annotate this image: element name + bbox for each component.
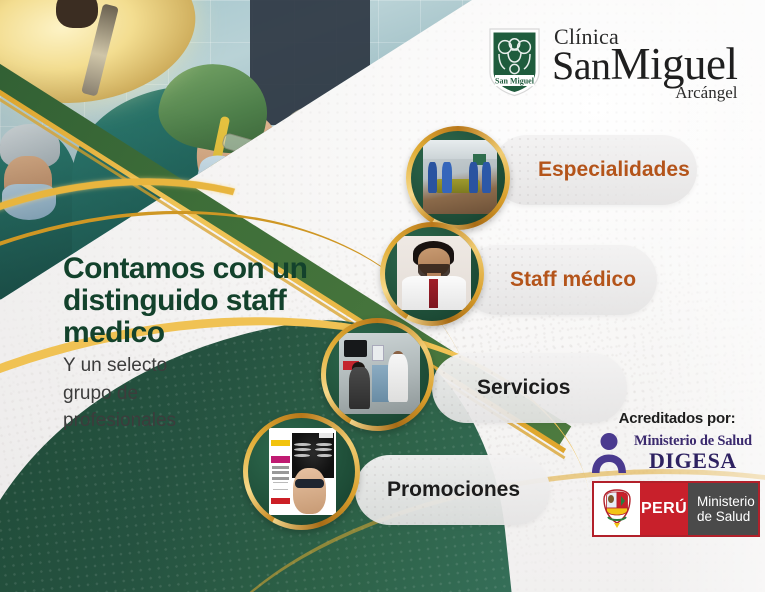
brand-logo[interactable]: San Miguel Clínica SanMiguel Arcángel <box>487 18 737 106</box>
xray-rib <box>317 454 332 457</box>
menu-label-promociones: Promociones <box>387 478 520 502</box>
operating-room-photo <box>423 140 496 213</box>
or-staff-4 <box>482 162 492 193</box>
digesa-ministry-text: Ministerio de Salud <box>634 434 752 449</box>
thumb-ring-inner <box>326 323 429 426</box>
minsa-country-label: PERÚ <box>640 483 688 535</box>
menu-pill-promociones[interactable]: Promociones <box>355 455 550 525</box>
menu-pill-especialidades[interactable]: Especialidades <box>492 135 697 205</box>
menu-thumb-especialidades[interactable] <box>406 126 510 230</box>
xray-rib <box>315 448 332 451</box>
digesa-wordmark: Ministerio de Salud DIGESA <box>634 434 752 472</box>
page-subtitle: Y un selecto grupo de profesionales <box>63 352 283 435</box>
thumb-ring-inner <box>385 227 479 321</box>
subheadline-line-3: profesionales <box>63 407 283 435</box>
thumb-ring-inner <box>248 418 355 525</box>
digesa-acronym-text: DIGESA <box>634 450 752 472</box>
digesa-logo: Ministerio de Salud DIGESA <box>588 431 762 475</box>
headline-line-1: Contamos con un <box>63 253 363 285</box>
icu-monitor <box>344 340 366 358</box>
logo-san-text: San <box>552 43 611 88</box>
doctor-portrait-photo <box>397 236 470 309</box>
accreditation-block: Acreditados por: Ministerio de Salud DIG… <box>592 410 762 537</box>
headline-line-3: medico <box>63 317 363 349</box>
minsa-ministry-line-2: de Salud <box>697 509 758 524</box>
or-staff-2 <box>442 162 452 193</box>
headline-line-2: distinguido staff <box>63 285 363 317</box>
promo-price-box <box>273 482 288 490</box>
menu-thumb-servicios[interactable] <box>321 318 434 431</box>
icu-doctor-body <box>388 354 409 402</box>
promo-cta-bar <box>271 498 290 504</box>
shield-logo-icon: San Miguel <box>487 26 542 98</box>
logo-wordmark: Clínica SanMiguel Arcángel <box>552 24 738 101</box>
xray-rib <box>294 443 310 446</box>
promo-sunglasses <box>295 479 324 489</box>
xray-rib <box>294 454 309 457</box>
person-figure-icon <box>588 431 630 475</box>
accreditation-title: Acreditados por: <box>592 410 762 427</box>
icu-equipment-photo <box>339 333 419 413</box>
promo-person-face <box>293 468 326 514</box>
minsa-ministry-line-1: Ministerio <box>697 494 758 509</box>
subheadline-line-2: grupo de <box>63 380 283 408</box>
page-title: Contamos con un distinguido staff medico <box>63 253 363 348</box>
icu-nurse-body <box>349 367 370 409</box>
promo-text-line <box>272 471 289 474</box>
promo-text-line <box>272 466 289 469</box>
doctor-necktie <box>429 279 437 308</box>
promo-flyer-photo <box>269 428 335 516</box>
or-staff-1 <box>428 162 438 193</box>
logo-miguel-text: Miguel <box>611 39 738 89</box>
logo-name-text: SanMiguel <box>552 42 738 87</box>
menu-thumb-staff-medico[interactable] <box>380 222 484 326</box>
or-staff-3 <box>469 162 479 193</box>
promo-brand-logo <box>319 431 334 438</box>
menu-label-servicios: Servicios <box>477 376 570 400</box>
peru-coat-of-arms-icon <box>594 483 640 535</box>
minsa-badge: PERÚ Ministerio de Salud <box>592 481 760 537</box>
icu-ventilator <box>372 345 385 361</box>
shield-wordmark: San Miguel <box>495 76 535 85</box>
slide-canvas: San Miguel Clínica SanMiguel Arcángel Co… <box>0 0 765 592</box>
menu-label-especialidades: Especialidades <box>538 158 690 182</box>
thumb-ring-inner <box>411 131 505 225</box>
minsa-ministry-label: Ministerio de Salud <box>688 483 758 535</box>
promo-magenta-banner <box>271 456 290 463</box>
xray-rib <box>294 448 311 451</box>
menu-thumb-promociones[interactable] <box>243 413 360 530</box>
xray-rib <box>316 443 332 446</box>
promo-text-line <box>272 477 289 480</box>
menu-pill-staff-medico[interactable]: Staff médico <box>462 245 657 315</box>
promo-yellow-banner <box>271 440 290 446</box>
subheadline-line-1: Y un selecto <box>63 352 283 380</box>
menu-label-staff-medico: Staff médico <box>510 268 636 292</box>
icu-tubing <box>372 365 390 402</box>
